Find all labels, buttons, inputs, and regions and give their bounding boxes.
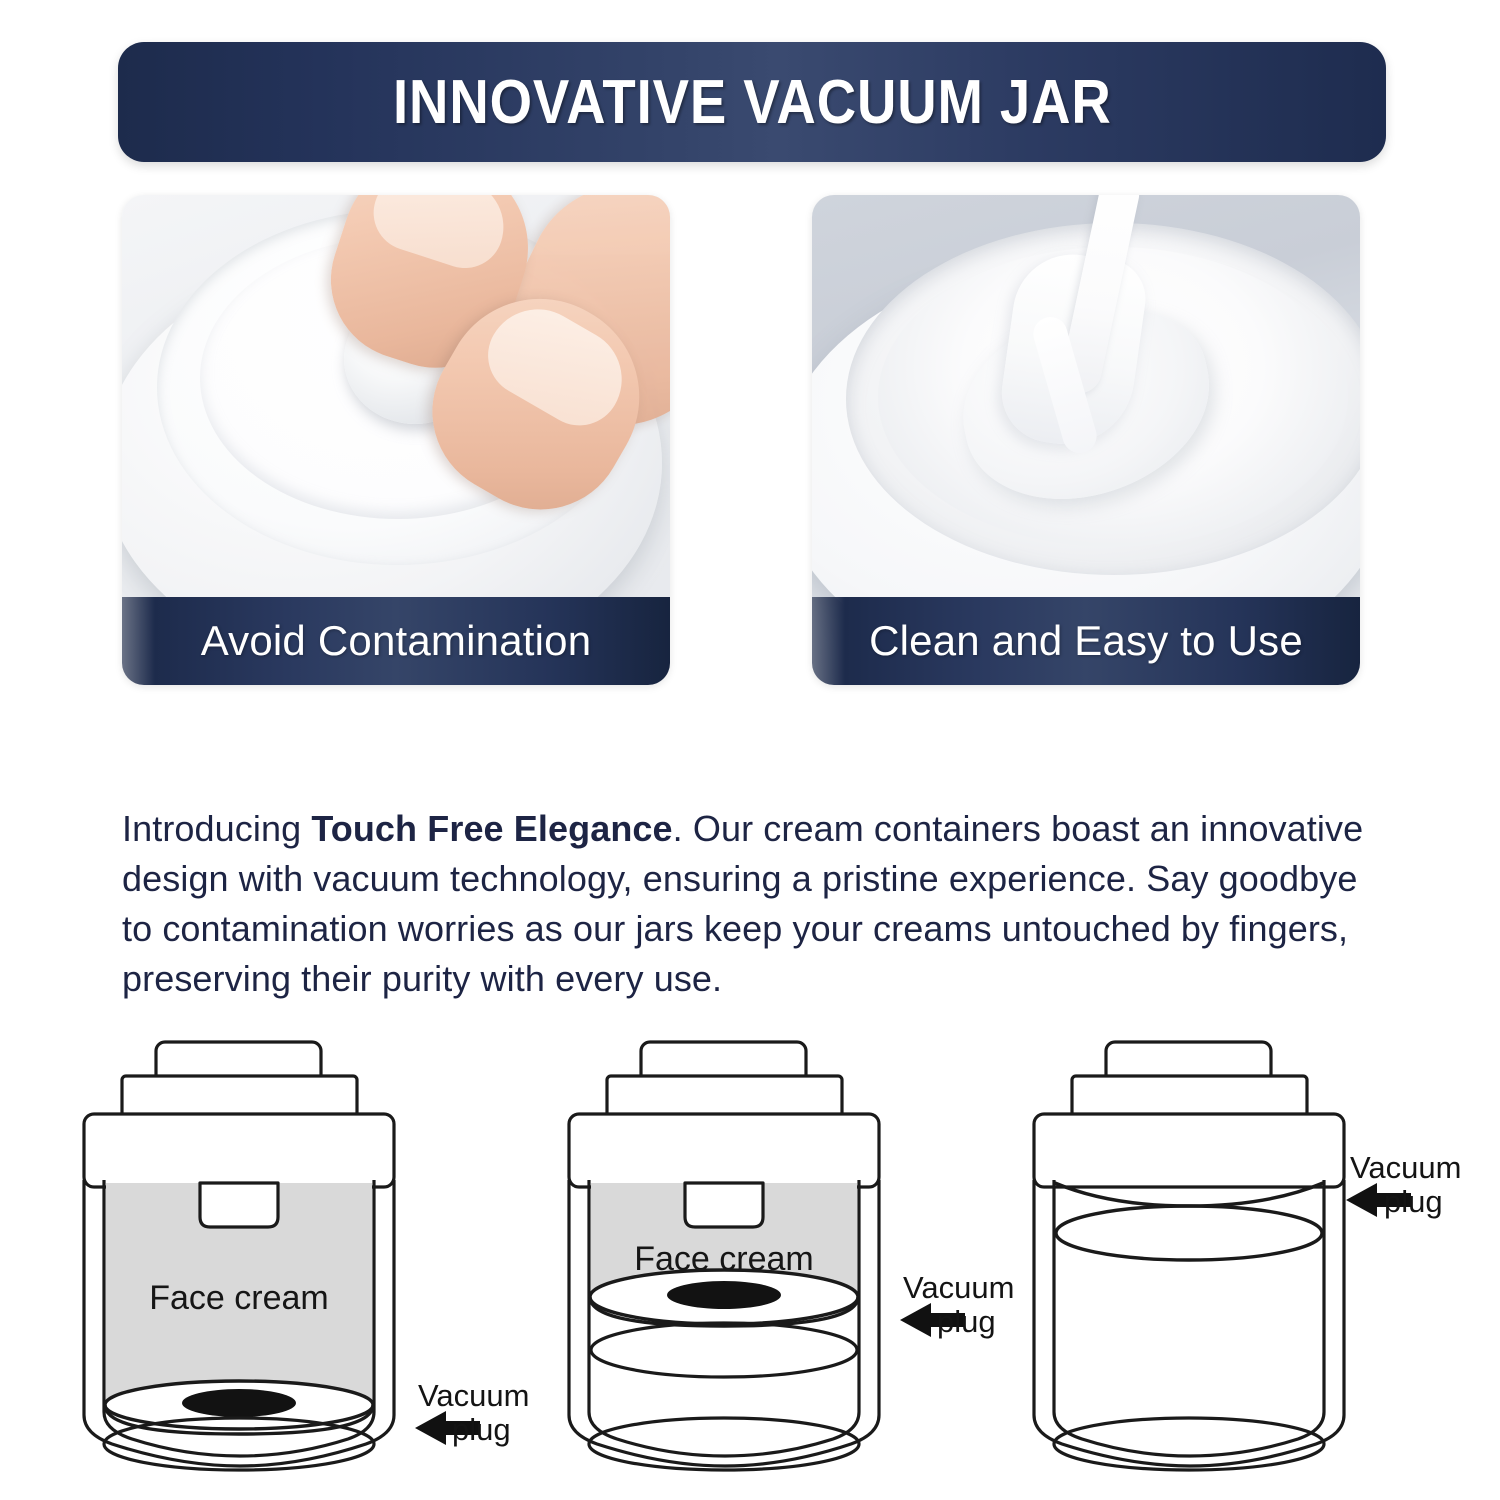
vacuum-hole <box>667 1281 781 1309</box>
vacuum-plug-label-line1: Vacuum <box>1350 1150 1461 1185</box>
card-caption-band-clean: Clean and Easy to Use <box>812 597 1360 685</box>
jar-mid-ellipse <box>591 1323 857 1377</box>
cream-label: Face cream <box>149 1279 329 1317</box>
page-title: INNOVATIVE VACUUM JAR <box>393 67 1112 138</box>
intro-lead: Introducing <box>122 808 311 849</box>
vacuum-plug-label-line2: plug <box>452 1412 511 1447</box>
jar-inner-wall <box>1054 1180 1324 1456</box>
jar-diagram-full: Face cream Vacuum plug <box>60 1020 530 1490</box>
jar-cap <box>84 1114 394 1187</box>
feature-card-clean-and-easy: Clean and Easy to Use <box>812 195 1360 685</box>
jar-cap <box>1034 1114 1344 1187</box>
feature-card-avoid-contamination: Avoid Contamination <box>122 195 670 685</box>
vacuum-plug-label-line2: plug <box>937 1304 996 1339</box>
vacuum-plug-label-line1: Vacuum <box>903 1270 1014 1305</box>
jar-diagram-empty: Vacuum plug <box>1010 1020 1480 1490</box>
header-banner: INNOVATIVE VACUUM JAR <box>118 42 1386 162</box>
intro-highlight: Touch Free Elegance <box>311 808 672 849</box>
vacuum-plug-label-line2: plug <box>1384 1184 1443 1219</box>
vacuum-jar-diagram-row: Face cream Vacuum plug <box>0 1020 1500 1490</box>
cap-inner-tab <box>685 1183 763 1227</box>
intro-paragraph: Introducing Touch Free Elegance. Our cre… <box>122 804 1387 1004</box>
card-caption-label: Avoid Contamination <box>201 617 592 665</box>
cap-inner-tab <box>200 1183 278 1227</box>
vacuum-hole <box>182 1389 296 1417</box>
card-caption-label: Clean and Easy to Use <box>869 617 1303 665</box>
plug-disc-body <box>1056 1206 1322 1260</box>
jar-cap <box>569 1114 879 1187</box>
vacuum-plug-label-line1: Vacuum <box>418 1378 529 1413</box>
jar-diagram-half: Face cream Vacuum plug <box>545 1020 1015 1490</box>
jar-outer-wall <box>1034 1180 1344 1466</box>
card-caption-band-avoid: Avoid Contamination <box>122 597 670 685</box>
